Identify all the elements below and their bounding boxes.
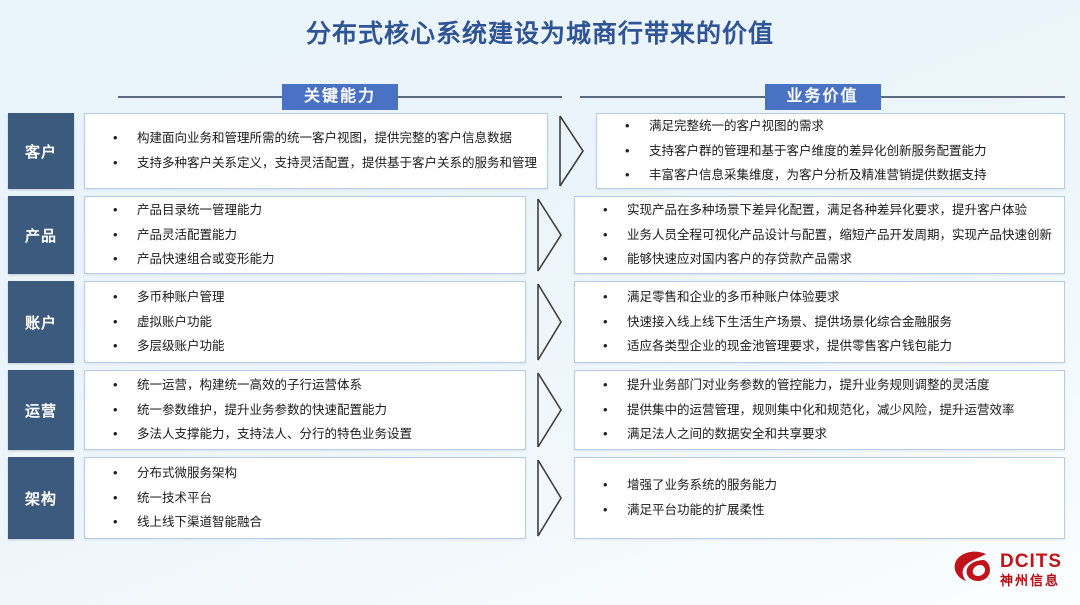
capability-item: 产品灵活配置能力 [95,223,515,248]
value-matrix: 客户构建面向业务和管理所需的统一客户视图，提供完整的客户信息数据支持多种客户关系… [0,113,1080,546]
header-rule-right-2 [881,96,1066,98]
capability-item: 分布式微服务架构 [95,461,515,486]
matrix-row: 账户多币种账户管理虚拟账户功能多层级账户功能满足零售和企业的多币种账户体验要求快… [0,281,1080,363]
chevron-right-icon [526,196,574,274]
column-header-business-value: 业务价值 [580,83,1065,111]
category-chip[interactable]: 产品 [8,196,74,274]
value-item: 实现产品在多种场景下差异化配置，满足各种差异化要求，提升客户体验 [585,198,1054,223]
category-chip[interactable]: 运营 [8,370,74,450]
value-item: 能够快速应对国内客户的存贷款产品需求 [585,247,1054,272]
header-rule-right [580,96,765,98]
matrix-row: 架构分布式微服务架构统一技术平台线上线下渠道智能融合增强了业务系统的服务能力满足… [0,457,1080,539]
value-item: 业务人员全程可视化产品设计与配置，缩短产品开发周期，实现产品快速创新 [585,223,1054,248]
value-item: 满足完整统一的客户视图的需求 [607,114,1054,139]
column-headers: 关键能力 业务价值 [0,83,1080,111]
capability-item: 多法人支撑能力，支持法人、分行的特色业务设置 [95,422,515,447]
chevron-right-icon [526,370,574,450]
header-rule-left-2 [398,96,562,98]
value-panel: 满足完整统一的客户视图的需求支持客户群的管理和基于客户维度的差异化创新服务配置能… [596,113,1065,189]
capability-list: 分布式微服务架构统一技术平台线上线下渠道智能融合 [95,461,515,536]
matrix-row: 产品产品目录统一管理能力产品灵活配置能力产品快速组合或变形能力实现产品在多种场景… [0,196,1080,274]
capability-panel: 多币种账户管理虚拟账户功能多层级账户功能 [84,281,526,363]
capability-list: 构建面向业务和管理所需的统一客户视图，提供完整的客户信息数据支持多种客户关系定义… [95,126,537,176]
capability-item: 线上线下渠道智能融合 [95,510,515,535]
capability-panel: 分布式微服务架构统一技术平台线上线下渠道智能融合 [84,457,526,539]
value-item: 满足平台功能的扩展柔性 [585,498,1054,523]
column-header-key-capability: 关键能力 [118,83,562,111]
header-rule-left [118,96,282,98]
capability-item: 多币种账户管理 [95,285,515,310]
value-panel: 实现产品在多种场景下差异化配置，满足各种差异化要求，提升客户体验业务人员全程可视… [574,196,1065,274]
value-list: 满足零售和企业的多币种账户体验要求快速接入线上线下生活生产场景、提供场景化综合金… [585,285,1054,360]
capability-item: 构建面向业务和管理所需的统一客户视图，提供完整的客户信息数据 [95,126,537,151]
capability-item: 统一技术平台 [95,486,515,511]
capability-panel: 产品目录统一管理能力产品灵活配置能力产品快速组合或变形能力 [84,196,526,274]
page-title: 分布式核心系统建设为城商行带来的价值 [0,14,1080,50]
value-item: 适应各类型企业的现金池管理要求，提供零售客户钱包能力 [585,334,1054,359]
value-list: 提升业务部门对业务参数的管控能力，提升业务规则调整的灵活度提供集中的运营管理，规… [585,373,1054,448]
capability-item: 多层级账户功能 [95,334,515,359]
capability-item: 产品目录统一管理能力 [95,198,515,223]
category-chip[interactable]: 客户 [8,113,74,189]
value-item: 满足法人之间的数据安全和共享要求 [585,422,1054,447]
capability-item: 虚拟账户功能 [95,310,515,335]
logo-text: DCITS 神州信息 [1000,552,1062,587]
value-panel: 提升业务部门对业务参数的管控能力，提升业务规则调整的灵活度提供集中的运营管理，规… [574,370,1065,450]
capability-item: 支持多种客户关系定义，支持灵活配置，提供基于客户关系的服务和管理 [95,151,537,176]
capability-item: 统一参数维护，提升业务参数的快速配置能力 [95,398,515,423]
value-list: 实现产品在多种场景下差异化配置，满足各种差异化要求，提升客户体验业务人员全程可视… [585,198,1054,273]
value-item: 支持客户群的管理和基于客户维度的差异化创新服务配置能力 [607,139,1054,164]
dcits-swoosh-icon [953,548,993,591]
capability-item: 产品快速组合或变形能力 [95,247,515,272]
value-item: 提升业务部门对业务参数的管控能力，提升业务规则调整的灵活度 [585,373,1054,398]
category-chip[interactable]: 账户 [8,281,74,363]
chevron-right-icon [526,281,574,363]
value-list: 增强了业务系统的服务能力满足平台功能的扩展柔性 [585,473,1054,523]
capability-item: 统一运营，构建统一高效的子行运营体系 [95,373,515,398]
value-panel: 增强了业务系统的服务能力满足平台功能的扩展柔性 [574,457,1065,539]
capability-list: 多币种账户管理虚拟账户功能多层级账户功能 [95,285,515,360]
chevron-right-icon [526,457,574,539]
capability-list: 产品目录统一管理能力产品灵活配置能力产品快速组合或变形能力 [95,198,515,273]
capability-list: 统一运营，构建统一高效的子行运营体系统一参数维护，提升业务参数的快速配置能力多法… [95,373,515,448]
value-item: 丰富客户信息采集维度，为客户分析及精准营销提供数据支持 [607,163,1054,188]
capability-panel: 统一运营，构建统一高效的子行运营体系统一参数维护，提升业务参数的快速配置能力多法… [84,370,526,450]
value-list: 满足完整统一的客户视图的需求支持客户群的管理和基于客户维度的差异化创新服务配置能… [607,114,1054,189]
matrix-row: 运营统一运营，构建统一高效的子行运营体系统一参数维护，提升业务参数的快速配置能力… [0,370,1080,450]
value-item: 增强了业务系统的服务能力 [585,473,1054,498]
column-header-label-left: 关键能力 [282,84,398,111]
value-item: 快速接入线上线下生活生产场景、提供场景化综合金融服务 [585,310,1054,335]
company-logo: DCITS 神州信息 [953,548,1062,591]
capability-panel: 构建面向业务和管理所需的统一客户视图，提供完整的客户信息数据支持多种客户关系定义… [84,113,548,189]
matrix-row: 客户构建面向业务和管理所需的统一客户视图，提供完整的客户信息数据支持多种客户关系… [0,113,1080,189]
chevron-right-icon [548,113,596,189]
logo-name-en: DCITS [1000,552,1062,571]
category-chip[interactable]: 架构 [8,457,74,539]
value-panel: 满足零售和企业的多币种账户体验要求快速接入线上线下生活生产场景、提供场景化综合金… [574,281,1065,363]
value-item: 满足零售和企业的多币种账户体验要求 [585,285,1054,310]
value-item: 提供集中的运营管理，规则集中化和规范化，减少风险，提升运营效率 [585,398,1054,423]
logo-name-cn: 神州信息 [1000,574,1062,587]
column-header-label-right: 业务价值 [765,84,881,111]
